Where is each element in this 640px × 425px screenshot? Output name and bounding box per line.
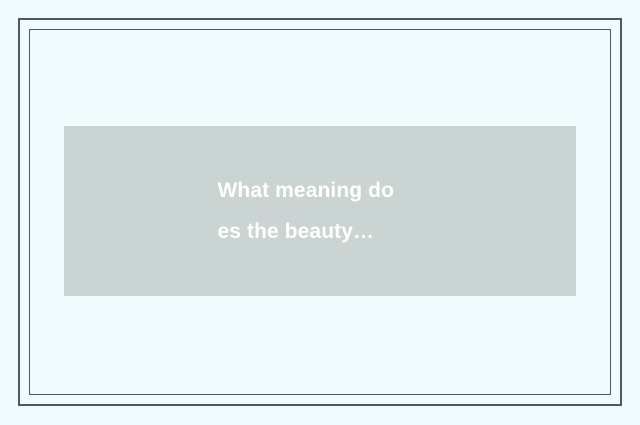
image-placeholder-band: What meaning do es the beauty…	[64, 126, 576, 296]
placeholder-caption-text: What meaning do es the beauty…	[218, 170, 423, 252]
page-canvas: What meaning do es the beauty…	[0, 0, 640, 425]
